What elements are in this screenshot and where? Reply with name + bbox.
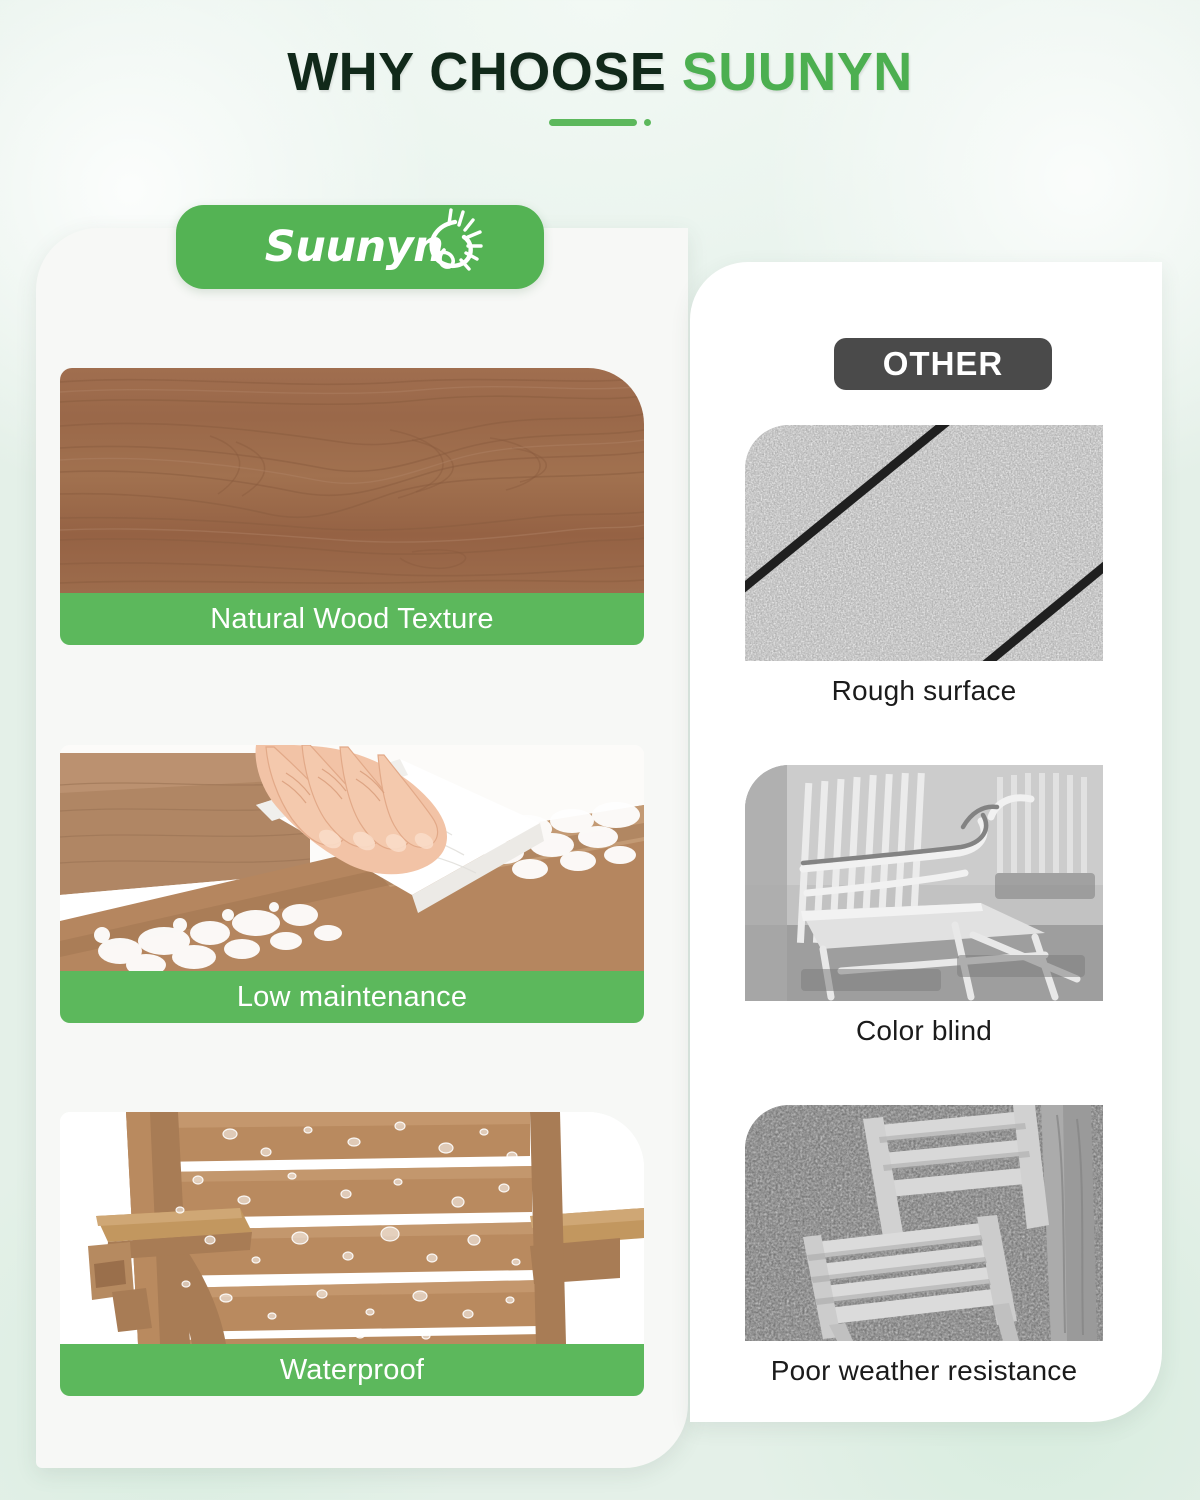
- faded-metal-bench-image: [745, 765, 1103, 1001]
- rough-gray-decking-image: [745, 425, 1103, 661]
- title-underline-bar: [549, 119, 637, 126]
- page-header: WHY CHOOSE SUUNYN: [0, 44, 1200, 126]
- other-badge-label: OTHER: [883, 345, 1004, 383]
- waterproof-chair-illustration: [60, 1112, 644, 1344]
- other-badge: OTHER: [834, 338, 1052, 390]
- wood-grain-illustration: [60, 368, 644, 593]
- suunyn-logo-badge: Suunyn: [176, 205, 544, 289]
- page-title: WHY CHOOSE SUUNYN: [0, 44, 1200, 101]
- hand-wiping-deck-board-image: [60, 745, 644, 971]
- drawback-item: Poor weather resistance: [745, 1105, 1103, 1387]
- feature-item: Natural Wood Texture: [60, 368, 644, 645]
- wood-grain-texture-image: [60, 368, 644, 593]
- drawback-item: Color blind: [745, 765, 1103, 1047]
- feature-item: Waterproof: [60, 1112, 644, 1396]
- sun-swoosh-icon: [411, 206, 485, 280]
- hand-wiping-illustration: [60, 745, 644, 971]
- page-title-primary: WHY CHOOSE: [287, 42, 666, 102]
- page-title-brand: SUUNYN: [682, 42, 913, 102]
- feature-item: Low maintenance: [60, 745, 644, 1023]
- water-beading-chair-image: [60, 1112, 644, 1344]
- feature-label: Low maintenance: [60, 971, 644, 1023]
- feature-label: Natural Wood Texture: [60, 593, 644, 645]
- comparison-board: Suunyn OTHER: [0, 0, 1200, 1500]
- drawback-caption: Poor weather resistance: [745, 1355, 1103, 1387]
- weathered-wooden-chair-image: [745, 1105, 1103, 1341]
- drawback-caption: Rough surface: [745, 675, 1103, 707]
- feature-label: Waterproof: [60, 1344, 644, 1396]
- suunyn-logo: Suunyn: [265, 222, 443, 272]
- title-underline-dot: [644, 119, 651, 126]
- drawback-item: Rough surface: [745, 425, 1103, 707]
- title-underline: [541, 119, 659, 126]
- drawback-caption: Color blind: [745, 1015, 1103, 1047]
